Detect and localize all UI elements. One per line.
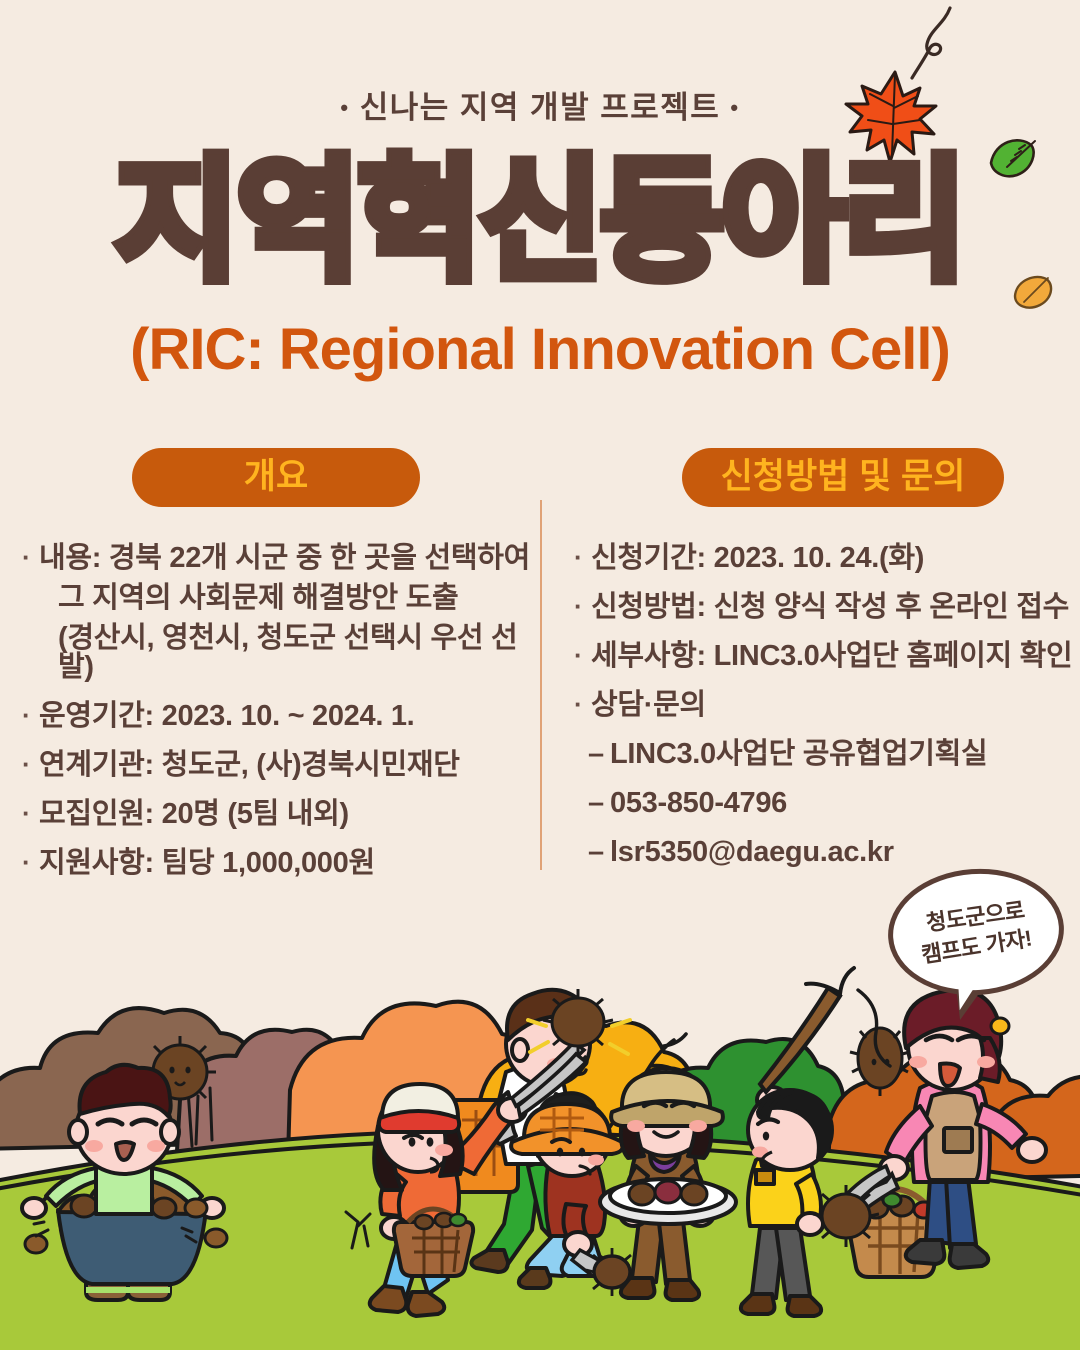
list-item-line: 그 지역의 사회문제 해결방안 도출 (39, 584, 540, 613)
tagline-dot-left: • (340, 95, 349, 120)
bullet-icon: · (574, 544, 591, 573)
dash-icon: – (588, 740, 610, 769)
list-item: · 신청기간: 2023. 10. 24.(화) (574, 544, 1080, 573)
list-item: · 모집인원: 20명 (5팀 내외) (22, 800, 540, 829)
list-item: · 연계기관: 청도군, (사)경북시민재단 (22, 751, 540, 780)
contact-email[interactable]: lsr5350@daegu.ac.kr (610, 838, 894, 867)
list-item-line: 내용: 경북 22개 시군 중 한 곳을 선택하여 (39, 544, 540, 573)
autumn-chestnut-scene-illustration (0, 960, 1080, 1350)
bullet-icon: · (22, 751, 39, 780)
tagline: • 신나는 지역 개발 프로젝트 • (0, 82, 1080, 127)
overview-list: · 내용: 경북 22개 시군 중 한 곳을 선택하여 그 지역의 사회문제 해… (22, 544, 540, 878)
bullet-icon: · (22, 702, 39, 731)
list-item: · 지원사항: 팀당 1,000,000원 (22, 849, 540, 878)
list-item: · 내용: 경북 22개 시군 중 한 곳을 선택하여 그 지역의 사회문제 해… (22, 544, 540, 682)
bullet-icon: · (574, 642, 591, 671)
list-item: · 세부사항: LINC3.0사업단 홈페이지 확인 (574, 642, 1080, 671)
contact-office: LINC3.0사업단 공유협업기획실 (610, 740, 987, 769)
dash-icon: – (588, 789, 610, 818)
overview-column: 개요 · 내용: 경북 22개 시군 중 한 곳을 선택하여 그 지역의 사회문… (0, 448, 540, 918)
list-item-line: 신청기간: 2023. 10. 24.(화) (591, 544, 1080, 573)
bullet-icon: · (574, 691, 591, 720)
dash-icon: – (588, 838, 610, 867)
bullet-icon: · (22, 544, 39, 682)
bullet-icon: · (22, 800, 39, 829)
apply-badge: 신청방법 및 문의 (682, 448, 1004, 507)
apply-column: 신청방법 및 문의 · 신청기간: 2023. 10. 24.(화) · 신청방… (540, 448, 1080, 918)
list-item-line: 세부사항: LINC3.0사업단 홈페이지 확인 (591, 642, 1080, 671)
contact-item: – 053-850-4796 (574, 789, 1080, 818)
contact-phone[interactable]: 053-850-4796 (610, 789, 787, 818)
tagline-dot-right: • (730, 95, 739, 120)
contact-item: – LINC3.0사업단 공유협업기획실 (574, 740, 1080, 769)
apply-list: · 신청기간: 2023. 10. 24.(화) · 신청방법: 신청 양식 작… (574, 544, 1080, 867)
list-item: · 상담·문의 (574, 691, 1080, 720)
list-item-line: 신청방법: 신청 양식 작성 후 온라인 접수 (591, 593, 1080, 622)
overview-badge: 개요 (132, 448, 420, 507)
poster-canvas: • 신나는 지역 개발 프로젝트 • 지역혁신동아리 (RIC: Regiona… (0, 0, 1080, 1350)
page-title: 지역혁신동아리 (0, 150, 1080, 295)
page-subtitle: (RIC: Regional Innovation Cell) (0, 316, 1080, 383)
list-item-line: 연계기관: 청도군, (사)경북시민재단 (39, 751, 540, 780)
list-item-line: 모집인원: 20명 (5팀 내외) (39, 800, 540, 829)
list-item: · 운영기간: 2023. 10. ~ 2024. 1. (22, 702, 540, 731)
list-item-line: 지원사항: 팀당 1,000,000원 (39, 849, 540, 878)
tagline-text: 신나는 지역 개발 프로젝트 (360, 90, 721, 125)
list-item-line: 운영기간: 2023. 10. ~ 2024. 1. (39, 702, 540, 731)
list-item-body: 내용: 경북 22개 시군 중 한 곳을 선택하여 그 지역의 사회문제 해결방… (39, 544, 540, 682)
list-item-line: 상담·문의 (591, 691, 1080, 720)
list-item: · 신청방법: 신청 양식 작성 후 온라인 접수 (574, 593, 1080, 622)
list-item-line: (경산시, 영천시, 청도군 선택시 우선 선발) (39, 624, 540, 682)
bullet-icon: · (22, 849, 39, 878)
bullet-icon: · (574, 593, 591, 622)
content-columns: 개요 · 내용: 경북 22개 시군 중 한 곳을 선택하여 그 지역의 사회문… (0, 448, 1080, 918)
contact-item: – lsr5350@daegu.ac.kr (574, 838, 1080, 867)
